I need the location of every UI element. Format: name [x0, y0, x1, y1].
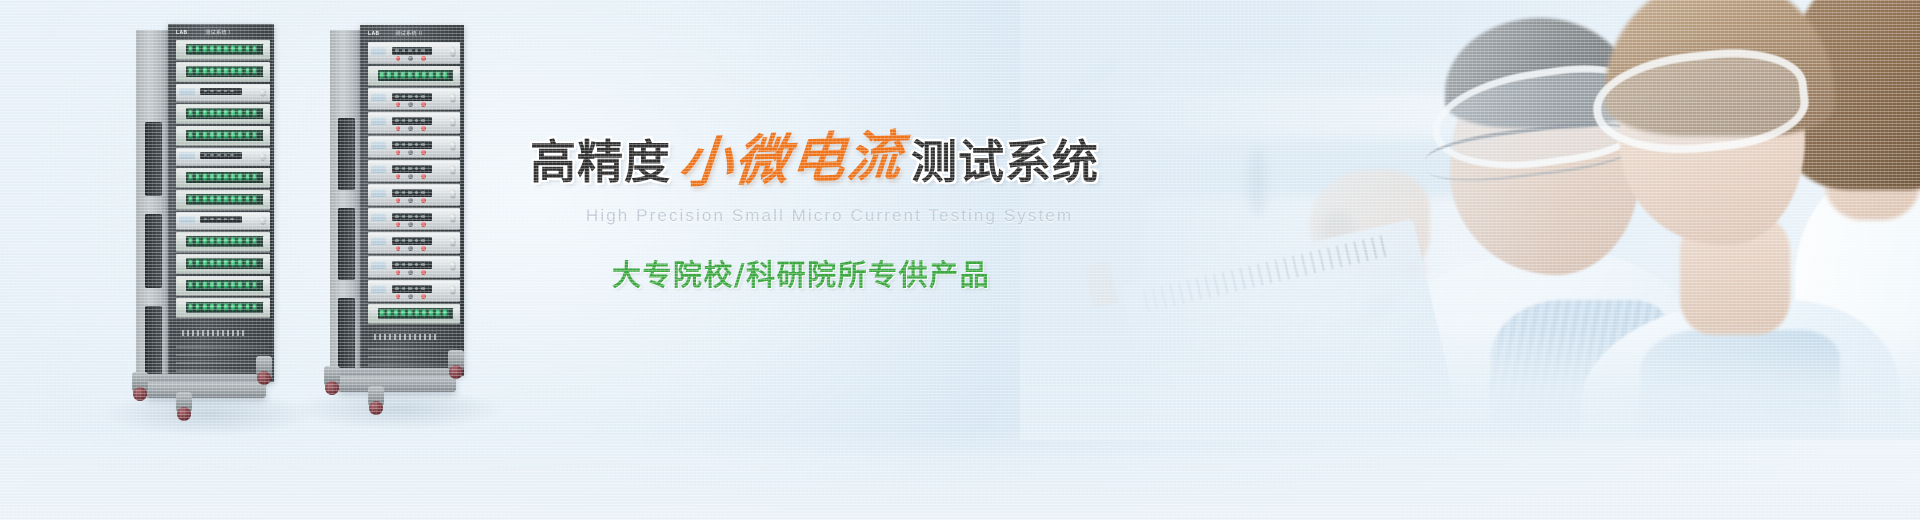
module-row[interactable] — [176, 212, 270, 230]
module-channel-panel — [186, 44, 265, 55]
caster-wheel — [132, 372, 148, 394]
banner-subtitle-chinese: 大专院校/科研院所专供产品 — [612, 252, 1290, 294]
module-row[interactable] — [176, 148, 270, 166]
module-row[interactable] — [368, 88, 460, 110]
module-row[interactable] — [176, 84, 270, 102]
module-row[interactable] — [176, 40, 270, 60]
module-row[interactable] — [368, 112, 460, 134]
side-panel-slot — [145, 122, 162, 196]
rack2-model-label: 测试系统 II — [395, 31, 422, 37]
instrument-racks: LAB 测试系统 I — [0, 0, 540, 440]
module-row[interactable] — [368, 136, 460, 158]
caster-wheel — [448, 350, 464, 372]
side-panel-slot — [145, 306, 162, 380]
banner-subtitle-english: High Precision Small Micro Current Testi… — [586, 206, 1290, 226]
module-left-panel — [177, 44, 185, 56]
banner-text-block: 高精度 小微电流 测试系统 High Precision Small Micro… — [530, 132, 1290, 294]
side-panel-slot — [338, 208, 355, 280]
photo-bottom-fade — [1020, 324, 1920, 440]
module-row[interactable] — [176, 190, 270, 210]
rack-shadow — [296, 388, 502, 430]
rack1-top-label: LAB 测试系统 I — [176, 29, 230, 36]
rack1-model-label: 测试系统 I — [205, 30, 230, 36]
side-panel-slot — [145, 214, 162, 288]
rack2-brand-label: LAB — [368, 31, 379, 37]
caster-wheel — [176, 392, 192, 414]
rack2-side-panel — [330, 30, 362, 374]
module-row[interactable] — [368, 160, 460, 182]
side-panel-slot — [338, 118, 355, 190]
side-panel-slot — [338, 298, 355, 370]
module-row[interactable] — [176, 168, 270, 188]
caster-wheel — [368, 386, 384, 408]
module-row[interactable] — [368, 304, 460, 324]
bottom-fade-band — [0, 428, 1920, 520]
rack2-base — [338, 376, 456, 392]
module-row[interactable] — [176, 254, 270, 274]
product-banner: LAB 测试系统 I — [0, 0, 1920, 520]
rack1-brand-label: LAB — [176, 30, 187, 36]
rack1-strip-label — [182, 330, 246, 336]
caster-wheel — [324, 366, 340, 388]
module-row[interactable] — [176, 276, 270, 296]
module-row[interactable] — [176, 104, 270, 124]
module-row[interactable] — [368, 232, 460, 254]
module-right-panel — [263, 44, 269, 56]
module-row[interactable] — [368, 256, 460, 278]
module-row[interactable] — [368, 66, 460, 86]
module-row[interactable] — [368, 184, 460, 206]
rack2-top-label: LAB 测试系统 II — [368, 30, 422, 37]
rack1-base — [146, 382, 266, 398]
title-segment-prefix: 高精度 — [530, 139, 671, 185]
title-segment-suffix: 测试系统 — [911, 139, 1099, 185]
banner-title: 高精度 小微电流 测试系统 — [530, 132, 1290, 186]
module-row[interactable] — [368, 208, 460, 230]
module-row[interactable] — [176, 232, 270, 252]
rack1-side-panel — [136, 30, 170, 382]
module-row[interactable] — [176, 126, 270, 146]
module-row[interactable] — [368, 280, 460, 302]
caster-wheel — [256, 356, 272, 378]
title-segment-highlight: 小微电流 — [676, 128, 906, 190]
module-row[interactable] — [176, 62, 270, 82]
module-row[interactable] — [176, 298, 270, 318]
rack2-strip-label — [374, 334, 437, 340]
module-row[interactable] — [368, 42, 460, 64]
